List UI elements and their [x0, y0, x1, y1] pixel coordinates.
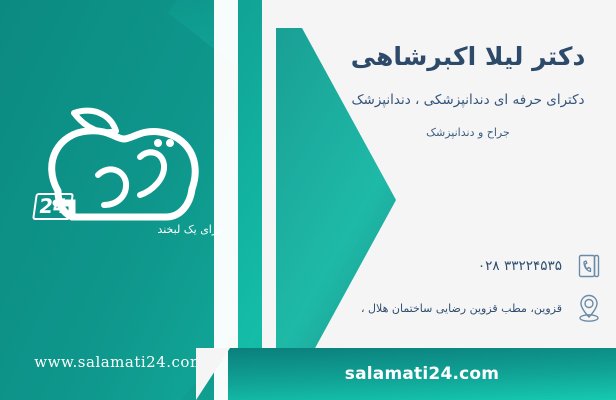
business-card: 24 برای یک لبخند www.salamati24.com دکتر… [0, 0, 616, 400]
doctor-subtitle: جراح و دندانپزشک [334, 126, 602, 139]
map-pin-icon [574, 292, 604, 324]
doctor-specialty: دکترای حرفه ای دندانپزشکی ، دندانپزشک [334, 92, 602, 108]
footer-website: salamati24.com [345, 364, 499, 384]
address-text: قزوین، مطب قزوین رضایی ساختمان هلال ، [361, 302, 562, 315]
phone-number: ۳۳۲۲۴۵۳۵ ۰۲۸ [478, 258, 562, 274]
logo-tagline: برای یک لبخند [157, 223, 221, 236]
logo-badge-24: 24 [32, 193, 74, 220]
doctor-name: دکتر لیلا اکبرشاهی [334, 42, 602, 71]
phone-row[interactable]: ۳۳۲۲۴۵۳۵ ۰۲۸ [478, 250, 604, 282]
brand-logo[interactable]: 24 برای یک لبخند www.salamati24.com [12, 105, 227, 275]
footer-bar[interactable]: salamati24.com [228, 348, 616, 400]
logo-website[interactable]: www.salamati24.com [12, 353, 227, 371]
card-content: دکتر لیلا اکبرشاهی دکترای حرفه ای دندانپ… [320, 0, 616, 400]
address-row[interactable]: قزوین، مطب قزوین رضایی ساختمان هلال ، [361, 292, 604, 324]
phonebook-icon [574, 250, 604, 282]
